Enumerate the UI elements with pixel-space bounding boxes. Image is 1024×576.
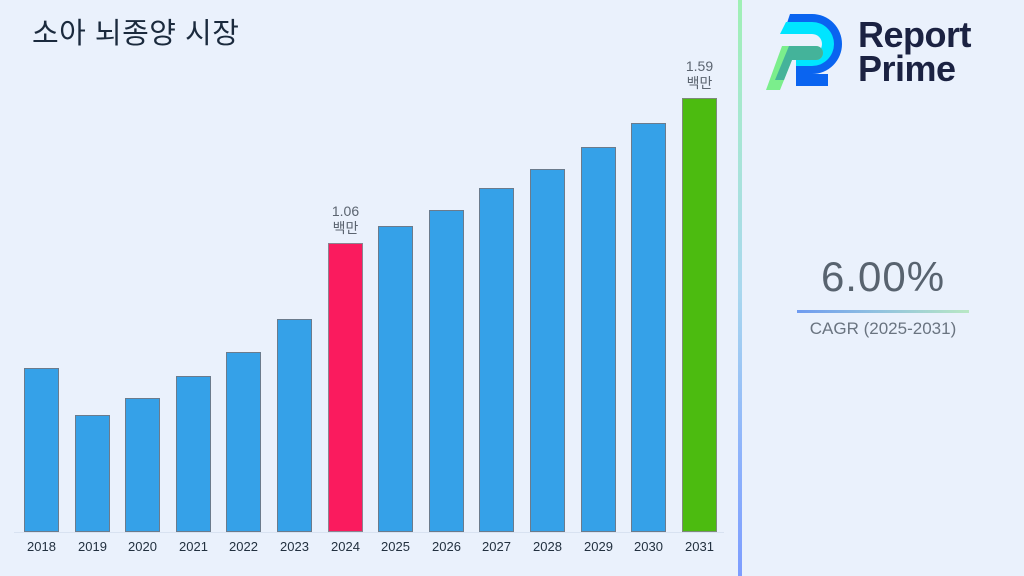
bar-2021[interactable] [176,376,211,532]
cagr-caption: CAGR (2025-2031) [742,319,1024,339]
cagr-block: 6.00% CAGR (2025-2031) [742,252,1024,339]
bar-2022[interactable] [226,352,261,532]
bar-rect-2023 [277,319,312,532]
x-tick-2029: 2029 [581,539,616,554]
x-tick-2027: 2027 [479,539,514,554]
x-tick-2024: 2024 [328,539,363,554]
x-tick-2026: 2026 [429,539,464,554]
bar-rect-2022 [226,352,261,532]
bar-value-unit-2031: 백만 [686,75,713,92]
bar-2028[interactable] [530,169,565,532]
bar-value-unit-2024: 백만 [332,220,359,237]
x-tick-2019: 2019 [75,539,110,554]
bar-rect-2018 [24,368,59,532]
side-panel: Report Prime 6.00% CAGR (2025-2031) [742,0,1024,576]
bar-rect-2028 [530,169,565,532]
bar-2030[interactable] [631,123,666,532]
brand-wordmark: Report Prime [858,18,971,86]
bar-rect-2030 [631,123,666,532]
brand-line-2: Prime [858,52,971,86]
x-tick-2021: 2021 [176,539,211,554]
bar-rect-2029 [581,147,616,532]
bar-series: 1.06백만1.59백만 [14,0,724,533]
x-tick-2030: 2030 [631,539,666,554]
bar-2031[interactable]: 1.59백만 [682,98,717,532]
slide-root: 소아 뇌종양 시장 1.06백만1.59백만 20182019202020212… [0,0,1024,576]
bar-rect-2021 [176,376,211,532]
bar-2018[interactable] [24,368,59,532]
bar-rect-2025 [378,226,413,532]
x-tick-2018: 2018 [24,539,59,554]
x-tick-2022: 2022 [226,539,261,554]
bar-rect-2027 [479,188,514,532]
bar-2027[interactable] [479,188,514,532]
bar-value-number-2031: 1.59 [686,58,713,75]
bar-rect-2019 [75,415,110,532]
bar-2024[interactable]: 1.06백만 [328,243,363,532]
brand-logo: Report Prime [766,8,971,96]
report-prime-r-logo-icon [766,8,844,96]
x-tick-2025: 2025 [378,539,413,554]
bar-2023[interactable] [277,319,312,532]
bar-rect-2024 [328,243,363,532]
bar-value-number-2024: 1.06 [332,203,359,220]
bar-2025[interactable] [378,226,413,532]
bar-rect-2031 [682,98,717,532]
bar-2026[interactable] [429,210,464,532]
cagr-divider [797,310,969,313]
x-tick-2028: 2028 [530,539,565,554]
bar-value-label-2031: 1.59백만 [686,58,713,92]
bar-2029[interactable] [581,147,616,532]
bar-2019[interactable] [75,415,110,532]
bar-chart: 1.06백만1.59백만 [0,0,738,533]
brand-line-1: Report [858,18,971,52]
bar-value-label-2024: 1.06백만 [332,203,359,237]
bar-rect-2026 [429,210,464,532]
chart-panel: 1.06백만1.59백만 201820192020202120222023202… [0,0,738,576]
x-tick-2023: 2023 [277,539,312,554]
x-tick-2020: 2020 [125,539,160,554]
cagr-value: 6.00% [742,252,1024,302]
bar-2020[interactable] [125,398,160,532]
bar-rect-2020 [125,398,160,532]
x-tick-2031: 2031 [682,539,717,554]
